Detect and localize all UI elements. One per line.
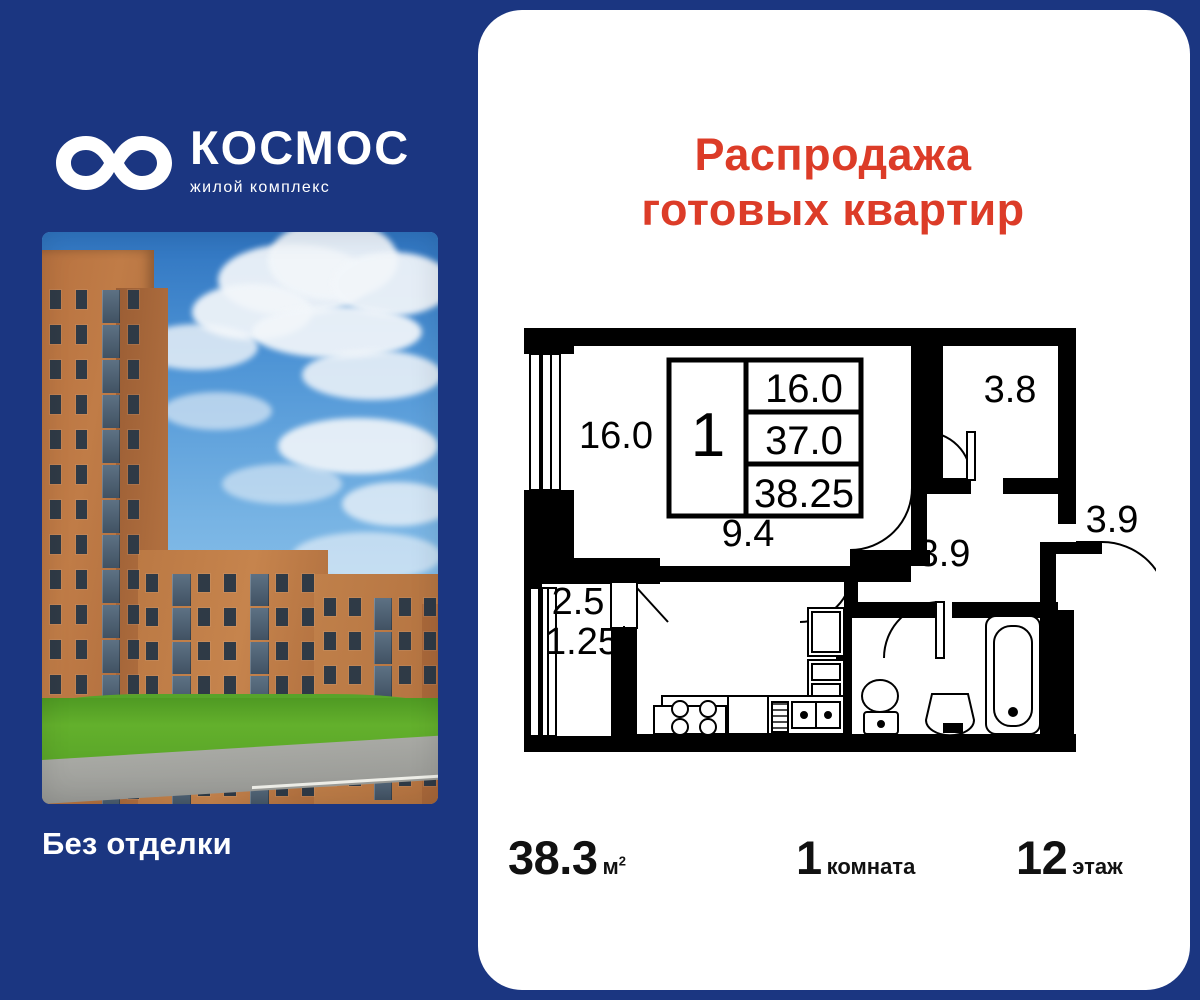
spec-floor: 12этаж bbox=[1016, 830, 1123, 885]
room-label-storage: 3.8 bbox=[984, 369, 1037, 411]
brand-tagline: жилой комплекс bbox=[190, 179, 470, 197]
building-photo bbox=[42, 232, 438, 804]
spec-floor-unit: этаж bbox=[1072, 854, 1122, 879]
spec-rooms: 1комната bbox=[796, 830, 915, 885]
room-label-hallway: 3.9 bbox=[1086, 499, 1139, 541]
brand-logo: КОСМОС жилой комплекс bbox=[42, 118, 442, 218]
finish-caption: Без отделки bbox=[42, 826, 442, 862]
headline-line-2: готовых квартир bbox=[508, 183, 1158, 238]
floorplan: 1 16.0 37.0 38.25 16.0 3.8 3.9 9.4 3.9 2… bbox=[516, 320, 1156, 760]
specs-row: 38.3м2 1комната 12этаж bbox=[508, 822, 1168, 894]
room-label-kitchen: 9.4 bbox=[722, 513, 775, 555]
infinity-icon bbox=[52, 128, 176, 198]
spec-rooms-unit: комната bbox=[827, 854, 916, 879]
photo-vignette bbox=[42, 232, 438, 804]
room-label-living: 16.0 bbox=[579, 415, 653, 457]
spec-area-unit: м2 bbox=[602, 854, 626, 879]
room-label-bathroom: 3.9 bbox=[918, 533, 971, 575]
brand-text: КОСМОС жилой комплекс bbox=[190, 124, 470, 197]
plan-living-area: 16.0 bbox=[765, 367, 843, 411]
listing-card: КОСМОС жилой комплекс bbox=[0, 0, 1200, 1000]
brand-panel: КОСМОС жилой комплекс bbox=[0, 0, 500, 1000]
spec-area-value: 38.3 bbox=[508, 831, 597, 884]
brand-name: КОСМОС bbox=[190, 124, 470, 171]
spec-floor-value: 12 bbox=[1016, 831, 1067, 884]
spec-area: 38.3м2 bbox=[508, 830, 626, 885]
room-label-balcony-counted: 1.25 bbox=[545, 621, 619, 663]
headline-line-1: Распродажа bbox=[694, 129, 971, 180]
plan-card: Распродажа готовых квартир bbox=[478, 10, 1190, 990]
spec-area-unit-sup: 2 bbox=[619, 854, 626, 869]
room-label-balcony: 2.5 bbox=[552, 581, 605, 623]
page-title: Распродажа готовых квартир bbox=[508, 128, 1158, 238]
floorplan-drawing: 1 16.0 37.0 38.25 16.0 3.8 3.9 9.4 3.9 2… bbox=[516, 320, 1156, 760]
plan-total-area: 38.25 bbox=[754, 472, 854, 516]
plan-area-no-balcony: 37.0 bbox=[765, 419, 843, 463]
plan-rooms-count: 1 bbox=[691, 401, 725, 470]
spec-rooms-value: 1 bbox=[796, 831, 822, 884]
